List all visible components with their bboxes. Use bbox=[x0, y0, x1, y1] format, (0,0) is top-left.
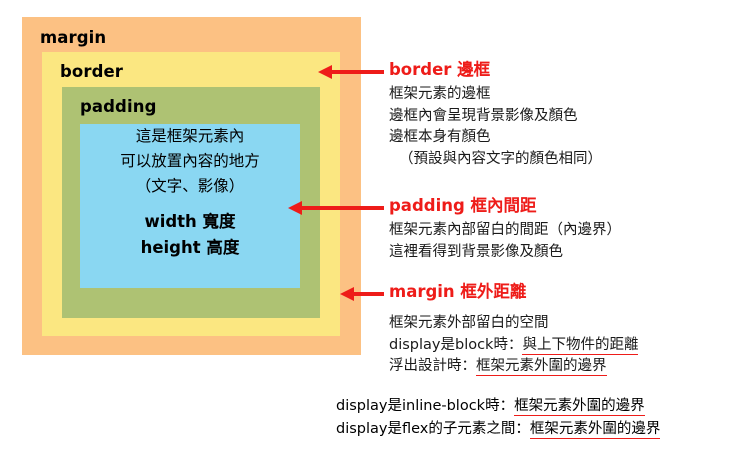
annotation-border-line-3: 邊框本身有顏色 bbox=[389, 127, 602, 149]
annotation-margin-line-2-prefix: display是block時： bbox=[389, 337, 522, 353]
annotation-extra-line-2-prefix: display是flex的子元素之間： bbox=[336, 421, 530, 437]
left-arrow-icon-margin bbox=[340, 286, 384, 302]
annotation-extra: display是inline-block時：框架元素外圍的邊界 display是… bbox=[336, 395, 660, 441]
arrow-shaft bbox=[330, 70, 384, 74]
arrow-head bbox=[340, 287, 354, 301]
annotation-padding-body: 框架元素內部留白的間距（內邊界） 這裡看得到背景影像及顏色 bbox=[389, 220, 621, 263]
annotation-margin-line-3-prefix: 浮出設計時： bbox=[389, 358, 476, 374]
content-spacer bbox=[80, 199, 300, 209]
annotation-padding-line-1: 框架元素內部留白的間距（內邊界） bbox=[389, 220, 621, 242]
content-box-text: 這是框架元素內 可以放置內容的地方 （文字、影像） width 寬度 heigh… bbox=[80, 124, 300, 261]
annotation-margin-line-2: display是block時：與上下物件的距離 bbox=[389, 335, 638, 357]
annotation-margin-line-3-underlined: 框架元素外圍的邊界 bbox=[476, 358, 607, 376]
annotation-extra-line-1-prefix: display是inline-block時： bbox=[336, 398, 514, 414]
content-line-2: 可以放置內容的地方 bbox=[80, 149, 300, 174]
arrow-shaft bbox=[300, 206, 384, 210]
annotation-border-line-4: （預設與內容文字的顏色相同） bbox=[389, 149, 602, 171]
annotation-margin-line-1: 框架元素外部留白的空間 bbox=[389, 313, 638, 335]
annotation-extra-line-2-underlined: 框架元素外圍的邊界 bbox=[530, 421, 661, 439]
annotation-extra-line-1-underlined: 框架元素外圍的邊界 bbox=[514, 398, 645, 416]
arrow-shaft bbox=[352, 292, 384, 296]
annotation-padding: padding 框內間距 框架元素內部留白的間距（內邊界） 這裡看得到背景影像及… bbox=[389, 196, 621, 263]
annotation-margin-line-2-underlined: 與上下物件的距離 bbox=[522, 337, 638, 355]
arrow-head bbox=[288, 201, 302, 215]
annotation-margin-line-3: 浮出設計時：框架元素外圍的邊界 bbox=[389, 356, 638, 378]
annotation-margin: margin 框外距離 框架元素外部留白的空間 display是block時：與… bbox=[389, 282, 638, 378]
content-line-1: 這是框架元素內 bbox=[80, 124, 300, 149]
content-width-label: width 寬度 bbox=[80, 209, 300, 235]
annotation-margin-body: 框架元素外部留白的空間 display是block時：與上下物件的距離 浮出設計… bbox=[389, 313, 638, 378]
content-height-label: height 高度 bbox=[80, 235, 300, 261]
left-arrow-icon-border bbox=[318, 64, 384, 80]
annotation-margin-title: margin 框外距離 bbox=[389, 282, 638, 301]
annotation-border-line-1: 框架元素的邊框 bbox=[389, 84, 602, 106]
annotation-padding-title: padding 框內間距 bbox=[389, 196, 621, 215]
annotation-extra-line-2: display是flex的子元素之間：框架元素外圍的邊界 bbox=[336, 418, 660, 441]
annotation-border: border 邊框 框架元素的邊框 邊框內會呈現背景影像及顏色 邊框本身有顏色 … bbox=[389, 60, 602, 170]
content-line-3: （文字、影像） bbox=[80, 174, 300, 199]
annotation-padding-line-2: 這裡看得到背景影像及顏色 bbox=[389, 242, 621, 264]
box-label-padding: padding bbox=[80, 99, 156, 116]
arrow-head bbox=[318, 65, 332, 79]
annotation-extra-line-1: display是inline-block時：框架元素外圍的邊界 bbox=[336, 395, 660, 418]
box-label-margin: margin bbox=[40, 30, 106, 47]
annotation-border-line-2: 邊框內會呈現背景影像及顏色 bbox=[389, 106, 602, 128]
left-arrow-icon-padding bbox=[288, 200, 384, 216]
annotation-border-title: border 邊框 bbox=[389, 60, 602, 79]
annotation-border-body: 框架元素的邊框 邊框內會呈現背景影像及顏色 邊框本身有顏色 （預設與內容文字的顏… bbox=[389, 84, 602, 170]
box-label-border: border bbox=[60, 64, 123, 81]
